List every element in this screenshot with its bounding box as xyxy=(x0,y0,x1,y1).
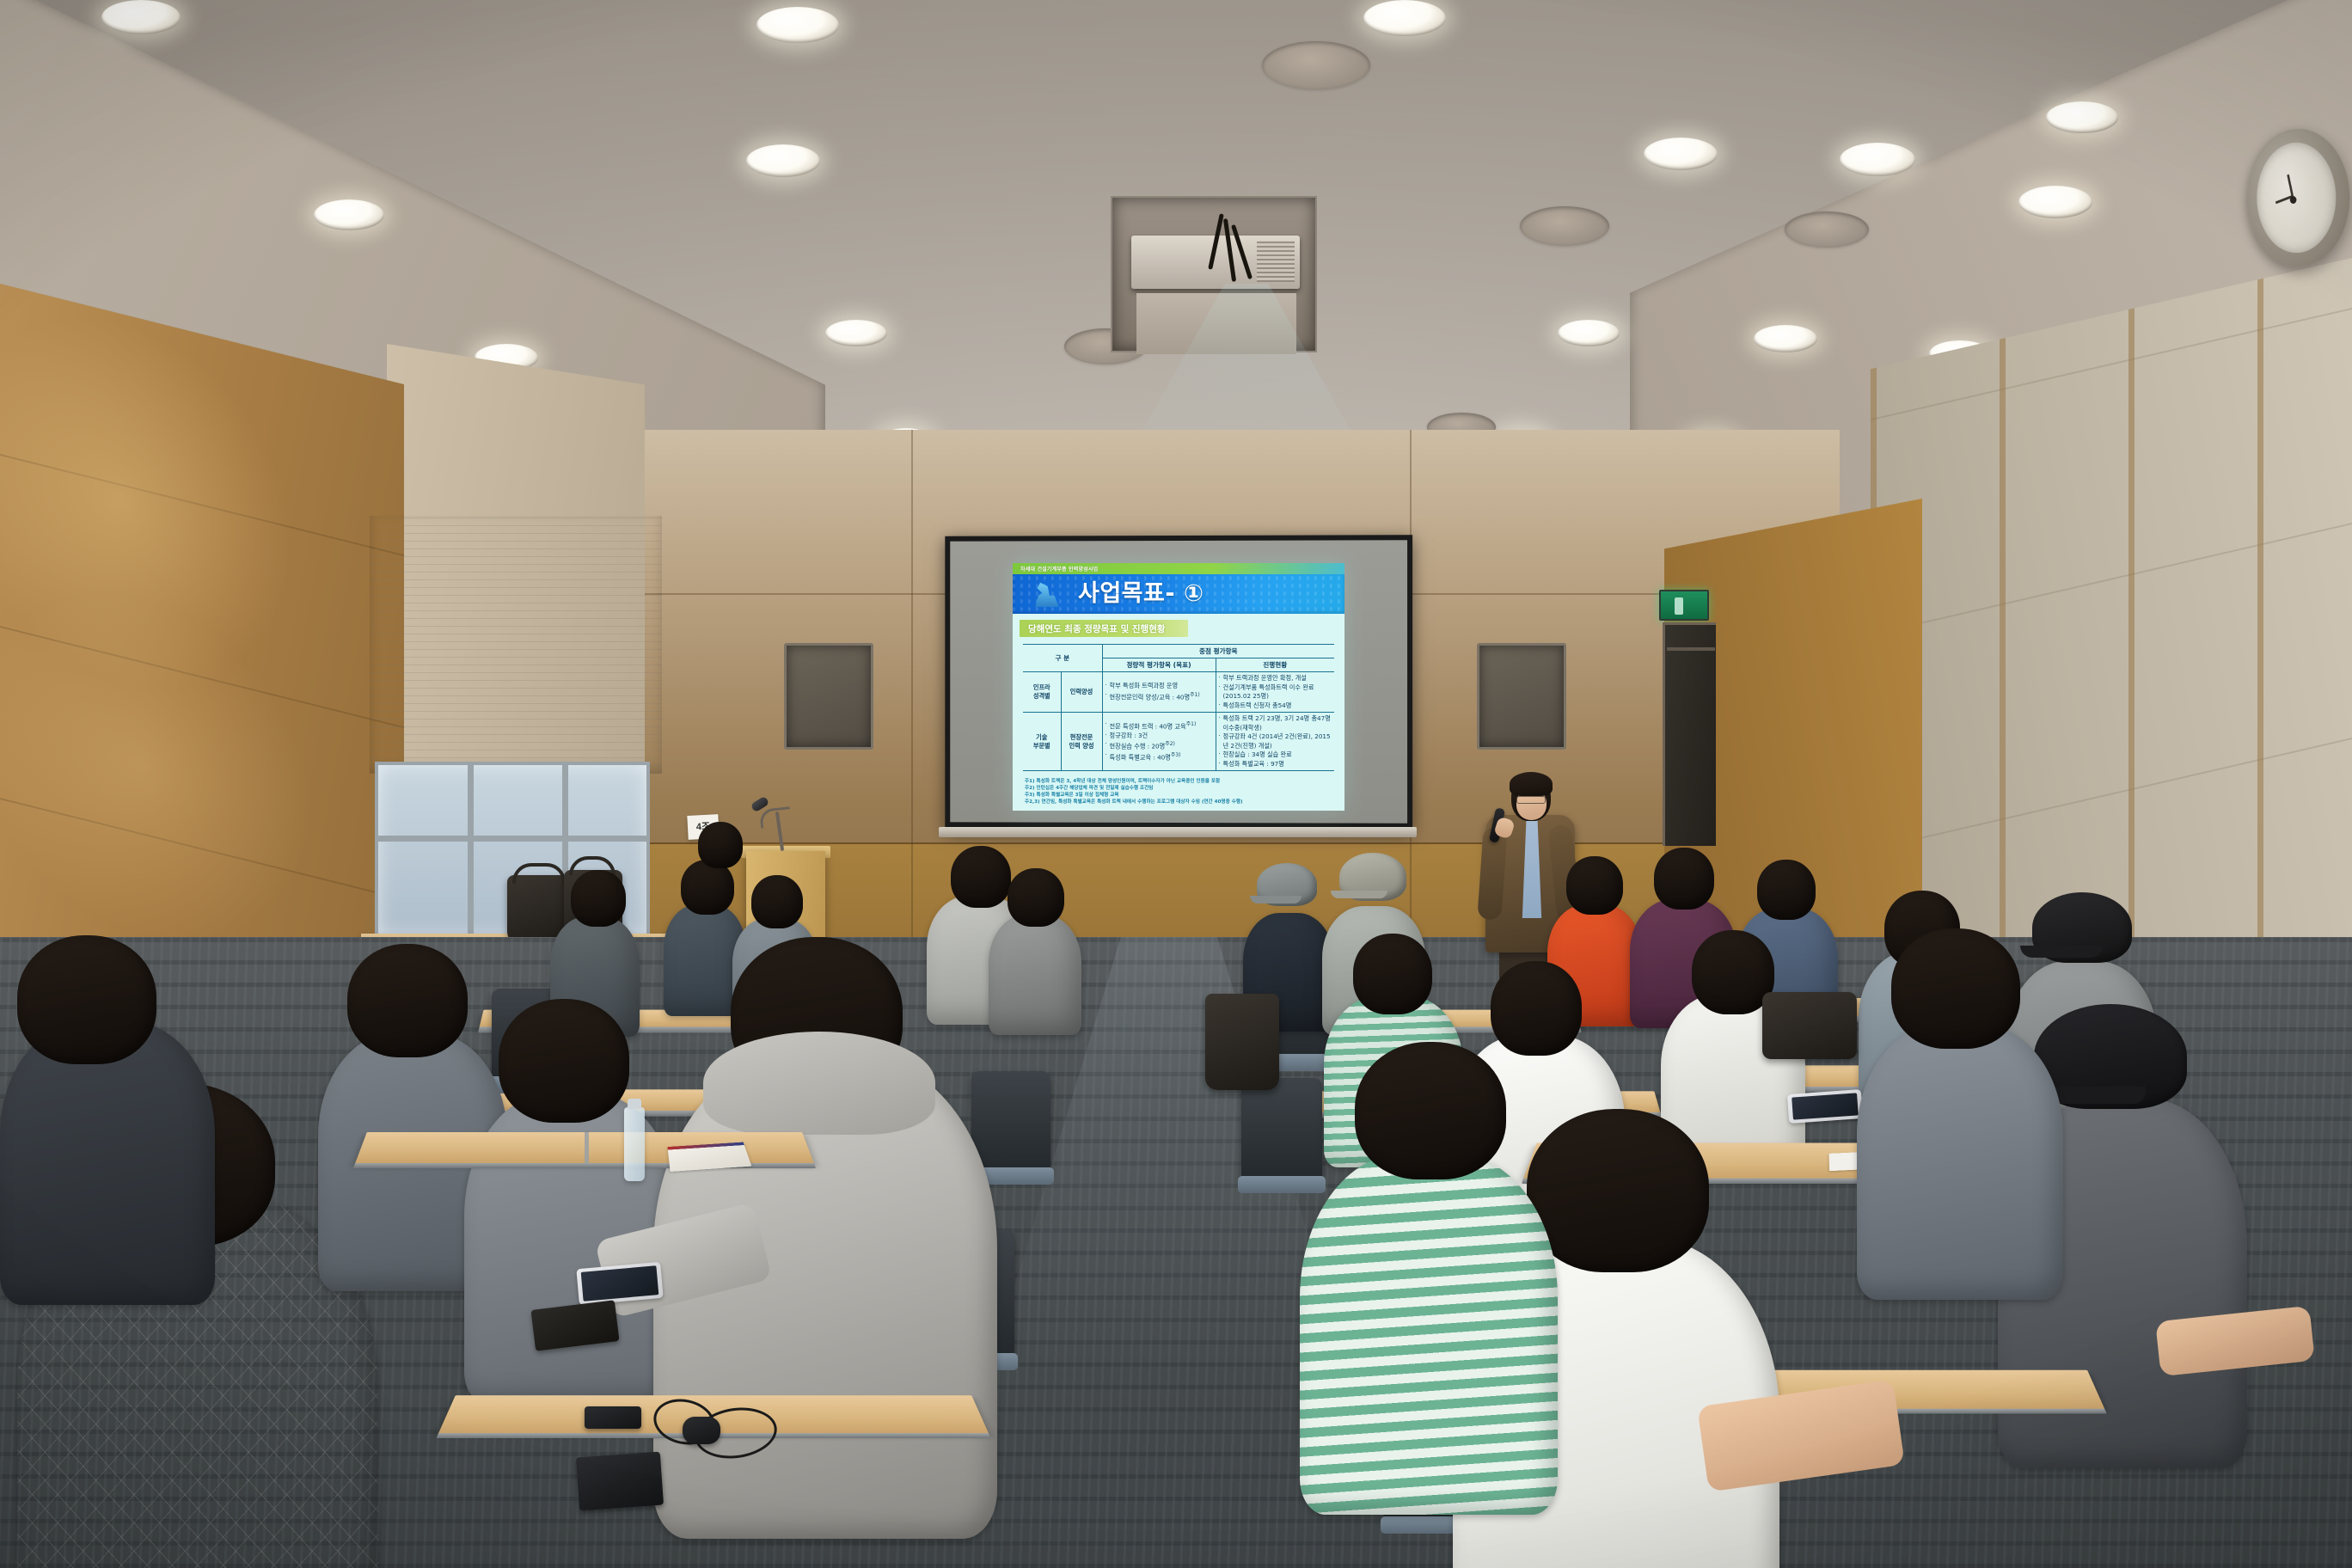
table-row: 인프라성격별 인력양성 학부 특성화 트랙과정 운영 현장전문인력 양성/교육 … xyxy=(1023,672,1334,713)
ceiling-speaker-icon xyxy=(1785,211,1869,248)
attendee-head xyxy=(1891,928,2020,1049)
row2-division: 기술부문별 xyxy=(1023,713,1061,771)
slide-title: 사업목표- ① xyxy=(1078,579,1204,609)
glasses-icon xyxy=(1516,796,1546,804)
attendee-head xyxy=(1566,856,1623,915)
footnote-1: 주1) 특성화 트랙은 3, 4학년 대상 전체 양성인원이며, 트랙이수자가 … xyxy=(1025,778,1334,785)
table-header-row-1: 구 분 중점 평가항목 xyxy=(1023,645,1334,658)
chair[interactable] xyxy=(971,1071,1050,1173)
table-header-target: 정량적 평가항목 (목표) xyxy=(1102,658,1216,672)
attendee-head xyxy=(1491,961,1582,1056)
slide-subtitle-bar: 당해연도 최종 정량목표 및 진행현황 xyxy=(1020,620,1188,637)
row2-targets: 전문 특성화 트랙 : 40명 교육주1) 정규강좌 : 3건 현장실습 수행 … xyxy=(1102,713,1216,771)
downlight-icon xyxy=(756,7,839,43)
attendee-torso xyxy=(1857,1025,2063,1300)
exit-door[interactable] xyxy=(1663,622,1716,846)
list-item: 전문 특성화 트랙 : 40명 교육주1) xyxy=(1106,720,1213,732)
cap-brim xyxy=(2020,946,2103,958)
downlight-icon xyxy=(2018,186,2092,218)
window-mullion xyxy=(378,836,646,842)
slide-subtitle-text: 당해연도 최종 정량목표 및 진행현황 xyxy=(1020,622,1166,635)
water-bottle xyxy=(624,1107,645,1181)
list-item: 특성화트랙 신청자 총54명 xyxy=(1219,701,1332,711)
wall-speaker-right xyxy=(1477,643,1566,750)
cap-brim xyxy=(1331,891,1387,898)
projector-housing-flap xyxy=(1136,292,1296,354)
attendee-head xyxy=(698,822,743,868)
cap-brim xyxy=(1250,896,1302,903)
presenter-hair xyxy=(1510,772,1553,796)
row1-subdivision: 인력양성 xyxy=(1061,672,1102,713)
chair[interactable] xyxy=(1241,1078,1322,1181)
footnote-3: 주3) 특성화 특별교육은 3일 이상 집체형 교육 xyxy=(1025,792,1334,799)
list-item: 건설기계부품 특성화트랙 이수 완료 (2015.02 25명) xyxy=(1219,683,1332,701)
attendee-head xyxy=(17,935,156,1064)
bag xyxy=(1762,992,1857,1059)
attendee-head xyxy=(1654,848,1714,910)
ceiling-speaker-icon xyxy=(1520,206,1609,246)
desk-device xyxy=(576,1452,664,1511)
backpack-strap xyxy=(512,863,566,884)
list-item: 특성화 트랙 2기 23명, 3기 24명 총47명 이수중(재학생) xyxy=(1219,714,1332,732)
ceiling-speaker-icon xyxy=(1262,41,1370,89)
row1-progress: 학부 트랙과정 운영안 확정, 개설 건설기계부품 특성화트랙 이수 완료 (2… xyxy=(1216,672,1334,713)
downlight-icon xyxy=(1840,143,1915,176)
attendee-head xyxy=(951,846,1011,908)
smartphone[interactable] xyxy=(576,1262,663,1305)
attendee-head xyxy=(1527,1109,1709,1272)
chair-seat xyxy=(1238,1176,1326,1193)
slide-header-text: 차세대 건설기계부품 인력양성사업 xyxy=(1020,565,1098,573)
footnote-4: 주2,3) 연간임, 특성화 특별교육은 특성화 트랙 내에서 수행하는 프로그… xyxy=(1025,799,1334,805)
downlight-icon xyxy=(825,320,887,346)
presentation-slide: 차세대 건설기계부품 인력양성사업 사업목표- ① 당해연도 최종 정량목표 및… xyxy=(1013,563,1344,811)
attendee-head xyxy=(499,999,629,1123)
list-item: 현장전문인력 양성/교육 : 40명주1) xyxy=(1106,691,1213,702)
list-item: 학부 특성화 트랙과정 운영 xyxy=(1106,682,1213,691)
attendee-head xyxy=(1008,868,1064,927)
attendee-torso xyxy=(989,915,1081,1035)
projector-vent-icon xyxy=(1257,241,1295,282)
desk-seam xyxy=(585,1132,589,1164)
slide-footnotes: 주1) 특성화 트랙은 3, 4학년 대상 전체 양성인원이며, 트랙이수자가 … xyxy=(1025,778,1334,805)
attendee-head xyxy=(347,944,468,1057)
slide-header-band: 차세대 건설기계부품 인력양성사업 xyxy=(1013,563,1344,574)
emergency-exit-sign-icon xyxy=(1659,590,1709,621)
attendee-head xyxy=(1353,934,1432,1014)
footnote-2: 주2) 인턴십은 4주간 해당업체 파견 및 전일제 실습수행 조건임 xyxy=(1025,785,1334,792)
lecture-room-photo: 차세대 건설기계부품 인력양성사업 사업목표- ① 당해연도 최종 정량목표 및… xyxy=(0,0,2352,1568)
projector-housing xyxy=(1111,196,1317,352)
clock-face xyxy=(2257,138,2336,257)
slide-title-bar: 사업목표- ① xyxy=(1013,574,1344,614)
attendee-torso xyxy=(1300,1154,1558,1515)
downlight-icon xyxy=(101,0,181,34)
attendee-head xyxy=(1355,1042,1506,1179)
downlight-icon xyxy=(1754,325,1817,352)
row2-subdivision: 현장전문인력 양성 xyxy=(1061,713,1102,771)
list-item: 현장실습 수행 : 20명주2) xyxy=(1106,740,1213,751)
downlight-icon xyxy=(2046,101,2118,133)
clock-center-pin xyxy=(2290,196,2297,204)
list-item: 특성화 특별교육 : 40명주3) xyxy=(1106,751,1213,763)
window-blind[interactable] xyxy=(370,516,662,774)
wall-speaker-left xyxy=(784,643,873,750)
list-item: 정규강좌 4건 (2014년 2건(완료), 2015년 2건(진행) 개설) xyxy=(1219,732,1332,750)
table-row: 기술부문별 현장전문인력 양성 전문 특성화 트랙 : 40명 교육주1) 정규… xyxy=(1023,713,1334,771)
downlight-icon xyxy=(314,199,384,230)
table-header-progress: 진행현황 xyxy=(1216,658,1334,672)
row1-targets: 학부 특성화 트랙과정 운영 현장전문인력 양성/교육 : 40명주1) xyxy=(1102,672,1216,713)
list-item: 현장실습 : 34명 실습 완료 xyxy=(1219,750,1332,760)
list-item: 특성화 특별교육 : 97명 xyxy=(1219,760,1332,769)
attendee-head xyxy=(751,875,803,928)
attendee-torso xyxy=(0,1021,215,1305)
row1-division: 인프라성격별 xyxy=(1023,672,1061,713)
table-header-group: 중점 평가항목 xyxy=(1102,645,1334,658)
downlight-icon xyxy=(1644,138,1718,170)
desk-device xyxy=(585,1406,641,1429)
window-mullion xyxy=(468,765,474,935)
door-push-bar xyxy=(1667,647,1715,651)
backpack xyxy=(1205,994,1279,1090)
hoodie-hood xyxy=(703,1032,935,1135)
list-item: 학부 트랙과정 운영안 확정, 개설 xyxy=(1219,674,1332,683)
downlight-icon xyxy=(1558,320,1620,346)
smartphone[interactable] xyxy=(1787,1089,1863,1124)
earphone-bud xyxy=(683,1417,720,1444)
table-header-division: 구 분 xyxy=(1023,645,1102,672)
downlight-icon xyxy=(1363,0,1446,36)
attendee-head xyxy=(1757,860,1816,920)
bottle-cap xyxy=(628,1099,641,1109)
slide-table: 구 분 중점 평가항목 정량적 평가항목 (목표) 진행현황 인프라성격별 인력… xyxy=(1023,644,1334,771)
attendee-head xyxy=(571,870,626,927)
downlight-icon xyxy=(746,144,820,177)
screen-bottom-bar xyxy=(939,827,1417,837)
row2-progress: 특성화 트랙 2기 23명, 3기 24명 총47명 이수중(재학생) 정규강좌… xyxy=(1216,713,1334,771)
list-item: 정규강좌 : 3건 xyxy=(1106,732,1213,741)
